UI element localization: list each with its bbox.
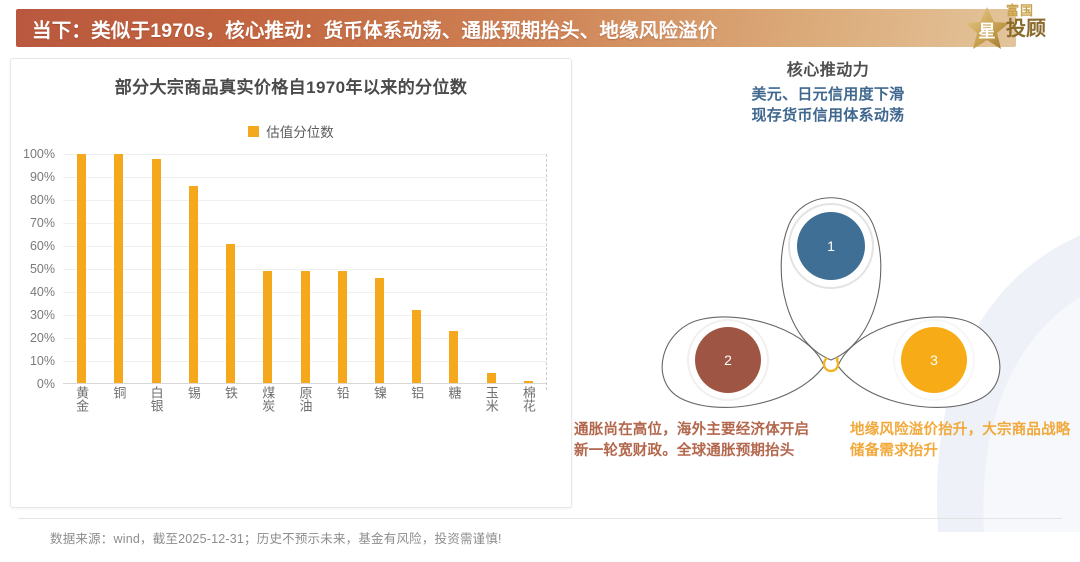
y-axis-tick: 60%: [30, 239, 55, 253]
x-axis-tick-label: 铅: [336, 386, 349, 466]
footer-divider: [18, 518, 1062, 519]
bar-slot[interactable]: [324, 154, 361, 384]
driver-2-caption: 通胀尚在高位，海外主要经济体开启新一轮宽财政。全球通胀预期抬头: [574, 420, 816, 462]
chart-card: 部分大宗商品真实价格自1970年以来的分位数 估值分位数 100%90%80%7…: [10, 58, 572, 508]
x-axis-tick: 铝: [398, 386, 435, 466]
brand-logo: 星 富国 投顾: [962, 0, 1074, 54]
driver-3-caption: 地缘风险溢价抬升，大宗商品战略储备需求抬升: [850, 420, 1080, 462]
page-title: 当下：类似于1970s，核心推动：货币体系动荡、通胀预期抬头、地缘风险溢价: [16, 14, 718, 43]
x-axis-tick-label: 白银: [150, 386, 163, 466]
bar-slot[interactable]: [100, 154, 137, 384]
footer-disclaimer: 数据来源：wind，截至2025-12-31；历史不预示未来，基金有风险，投资需…: [50, 528, 502, 547]
bar-slot[interactable]: [398, 154, 435, 384]
bar[interactable]: [338, 271, 347, 384]
node-1-number: 1: [827, 238, 835, 254]
y-axis-tick: 70%: [30, 216, 55, 230]
chart-title: 部分大宗商品真实价格自1970年以来的分位数: [11, 73, 571, 98]
y-axis-labels: 100%90%80%70%60%50%40%30%20%10%0%: [11, 154, 59, 384]
y-axis-tick: 40%: [30, 285, 55, 299]
bar[interactable]: [77, 154, 86, 384]
bar-slot[interactable]: [212, 154, 249, 384]
x-axis-tick-label: 镍: [373, 386, 386, 466]
plot-area: [63, 154, 547, 384]
panel-heading: 核心推动力: [578, 56, 1078, 80]
bar[interactable]: [226, 244, 235, 384]
x-axis-labels: 黄金铜白银锡铁煤炭原油铅镍铝糖玉米棉花: [63, 386, 547, 466]
bar[interactable]: [263, 271, 272, 384]
y-axis-tick: 30%: [30, 308, 55, 322]
y-axis-tick: 90%: [30, 170, 55, 184]
bar-slot[interactable]: [137, 154, 174, 384]
petal-diagram: 1 2 3: [636, 142, 1026, 432]
header-banner: 当下：类似于1970s，核心推动：货币体系动荡、通胀预期抬头、地缘风险溢价: [16, 9, 1016, 47]
bar-slot[interactable]: [510, 154, 547, 384]
x-axis-tick-label: 锡: [187, 386, 200, 466]
bar[interactable]: [301, 271, 310, 384]
x-axis-tick: 铅: [324, 386, 361, 466]
logo-line-2: 投顾: [1006, 18, 1074, 41]
bar[interactable]: [412, 310, 421, 384]
legend-label: 估值分位数: [266, 121, 334, 141]
chart-legend: 估值分位数: [11, 121, 571, 141]
x-axis-tick-label: 玉米: [485, 386, 498, 466]
x-axis-tick-label: 铝: [410, 386, 423, 466]
x-axis-tick-label: 铜: [112, 386, 125, 466]
x-axis-tick: 煤炭: [249, 386, 286, 466]
bar[interactable]: [189, 186, 198, 384]
x-axis-tick: 原油: [286, 386, 323, 466]
logo-wordmark: 富国 投顾: [1006, 3, 1074, 41]
y-axis-tick: 0%: [37, 377, 55, 391]
bar-series: [63, 154, 547, 384]
core-drivers-panel: 核心推动力 美元、日元信用度下滑 现存货币信用体系动荡: [578, 52, 1078, 514]
x-axis-tick-label: 黄金: [75, 386, 88, 466]
x-axis-tick: 锡: [175, 386, 212, 466]
bar[interactable]: [449, 331, 458, 384]
bar[interactable]: [114, 154, 123, 384]
x-axis-tick: 糖: [435, 386, 472, 466]
x-axis-tick-label: 铁: [224, 386, 237, 466]
bar-slot[interactable]: [361, 154, 398, 384]
x-axis-tick: 铜: [100, 386, 137, 466]
x-axis-tick: 镍: [361, 386, 398, 466]
node-3-number: 3: [930, 352, 938, 368]
driver-1-caption: 美元、日元信用度下滑 现存货币信用体系动荡: [578, 84, 1078, 126]
x-axis-tick-label: 煤炭: [261, 386, 274, 466]
bar-slot[interactable]: [249, 154, 286, 384]
x-axis-tick: 白银: [137, 386, 174, 466]
driver-1-caption-line-2: 现存货币信用体系动荡: [578, 105, 1078, 126]
y-axis-tick: 50%: [30, 262, 55, 276]
logo-line-1: 富国: [1006, 3, 1074, 18]
bar-slot[interactable]: [175, 154, 212, 384]
x-axis-tick: 铁: [212, 386, 249, 466]
bar-slot[interactable]: [63, 154, 100, 384]
bar-slot[interactable]: [286, 154, 323, 384]
y-axis-tick: 80%: [30, 193, 55, 207]
svg-text:星: 星: [979, 22, 996, 41]
slide-canvas: 当下：类似于1970s，核心推动：货币体系动荡、通胀预期抬头、地缘风险溢价 星 …: [0, 0, 1080, 562]
legend-swatch-icon: [248, 126, 259, 137]
bar-slot[interactable]: [473, 154, 510, 384]
driver-1-caption-line-1: 美元、日元信用度下滑: [578, 84, 1078, 105]
plot-right-border: [546, 154, 547, 390]
bar[interactable]: [152, 159, 161, 384]
x-axis-tick-label: 原油: [299, 386, 312, 466]
y-axis-tick: 20%: [30, 331, 55, 345]
node-2-number: 2: [724, 352, 732, 368]
x-axis-tick: 玉米: [473, 386, 510, 466]
bar-slot[interactable]: [435, 154, 472, 384]
bar[interactable]: [375, 278, 384, 384]
x-axis-tick-label: 棉花: [522, 386, 535, 466]
x-axis-tick: 黄金: [63, 386, 100, 466]
x-axis-tick-label: 糖: [447, 386, 460, 466]
star-icon: 星: [964, 6, 1010, 50]
x-axis-tick: 棉花: [510, 386, 547, 466]
x-axis-line: [63, 383, 547, 384]
y-axis-tick: 100%: [23, 147, 55, 161]
y-axis-tick: 10%: [30, 354, 55, 368]
